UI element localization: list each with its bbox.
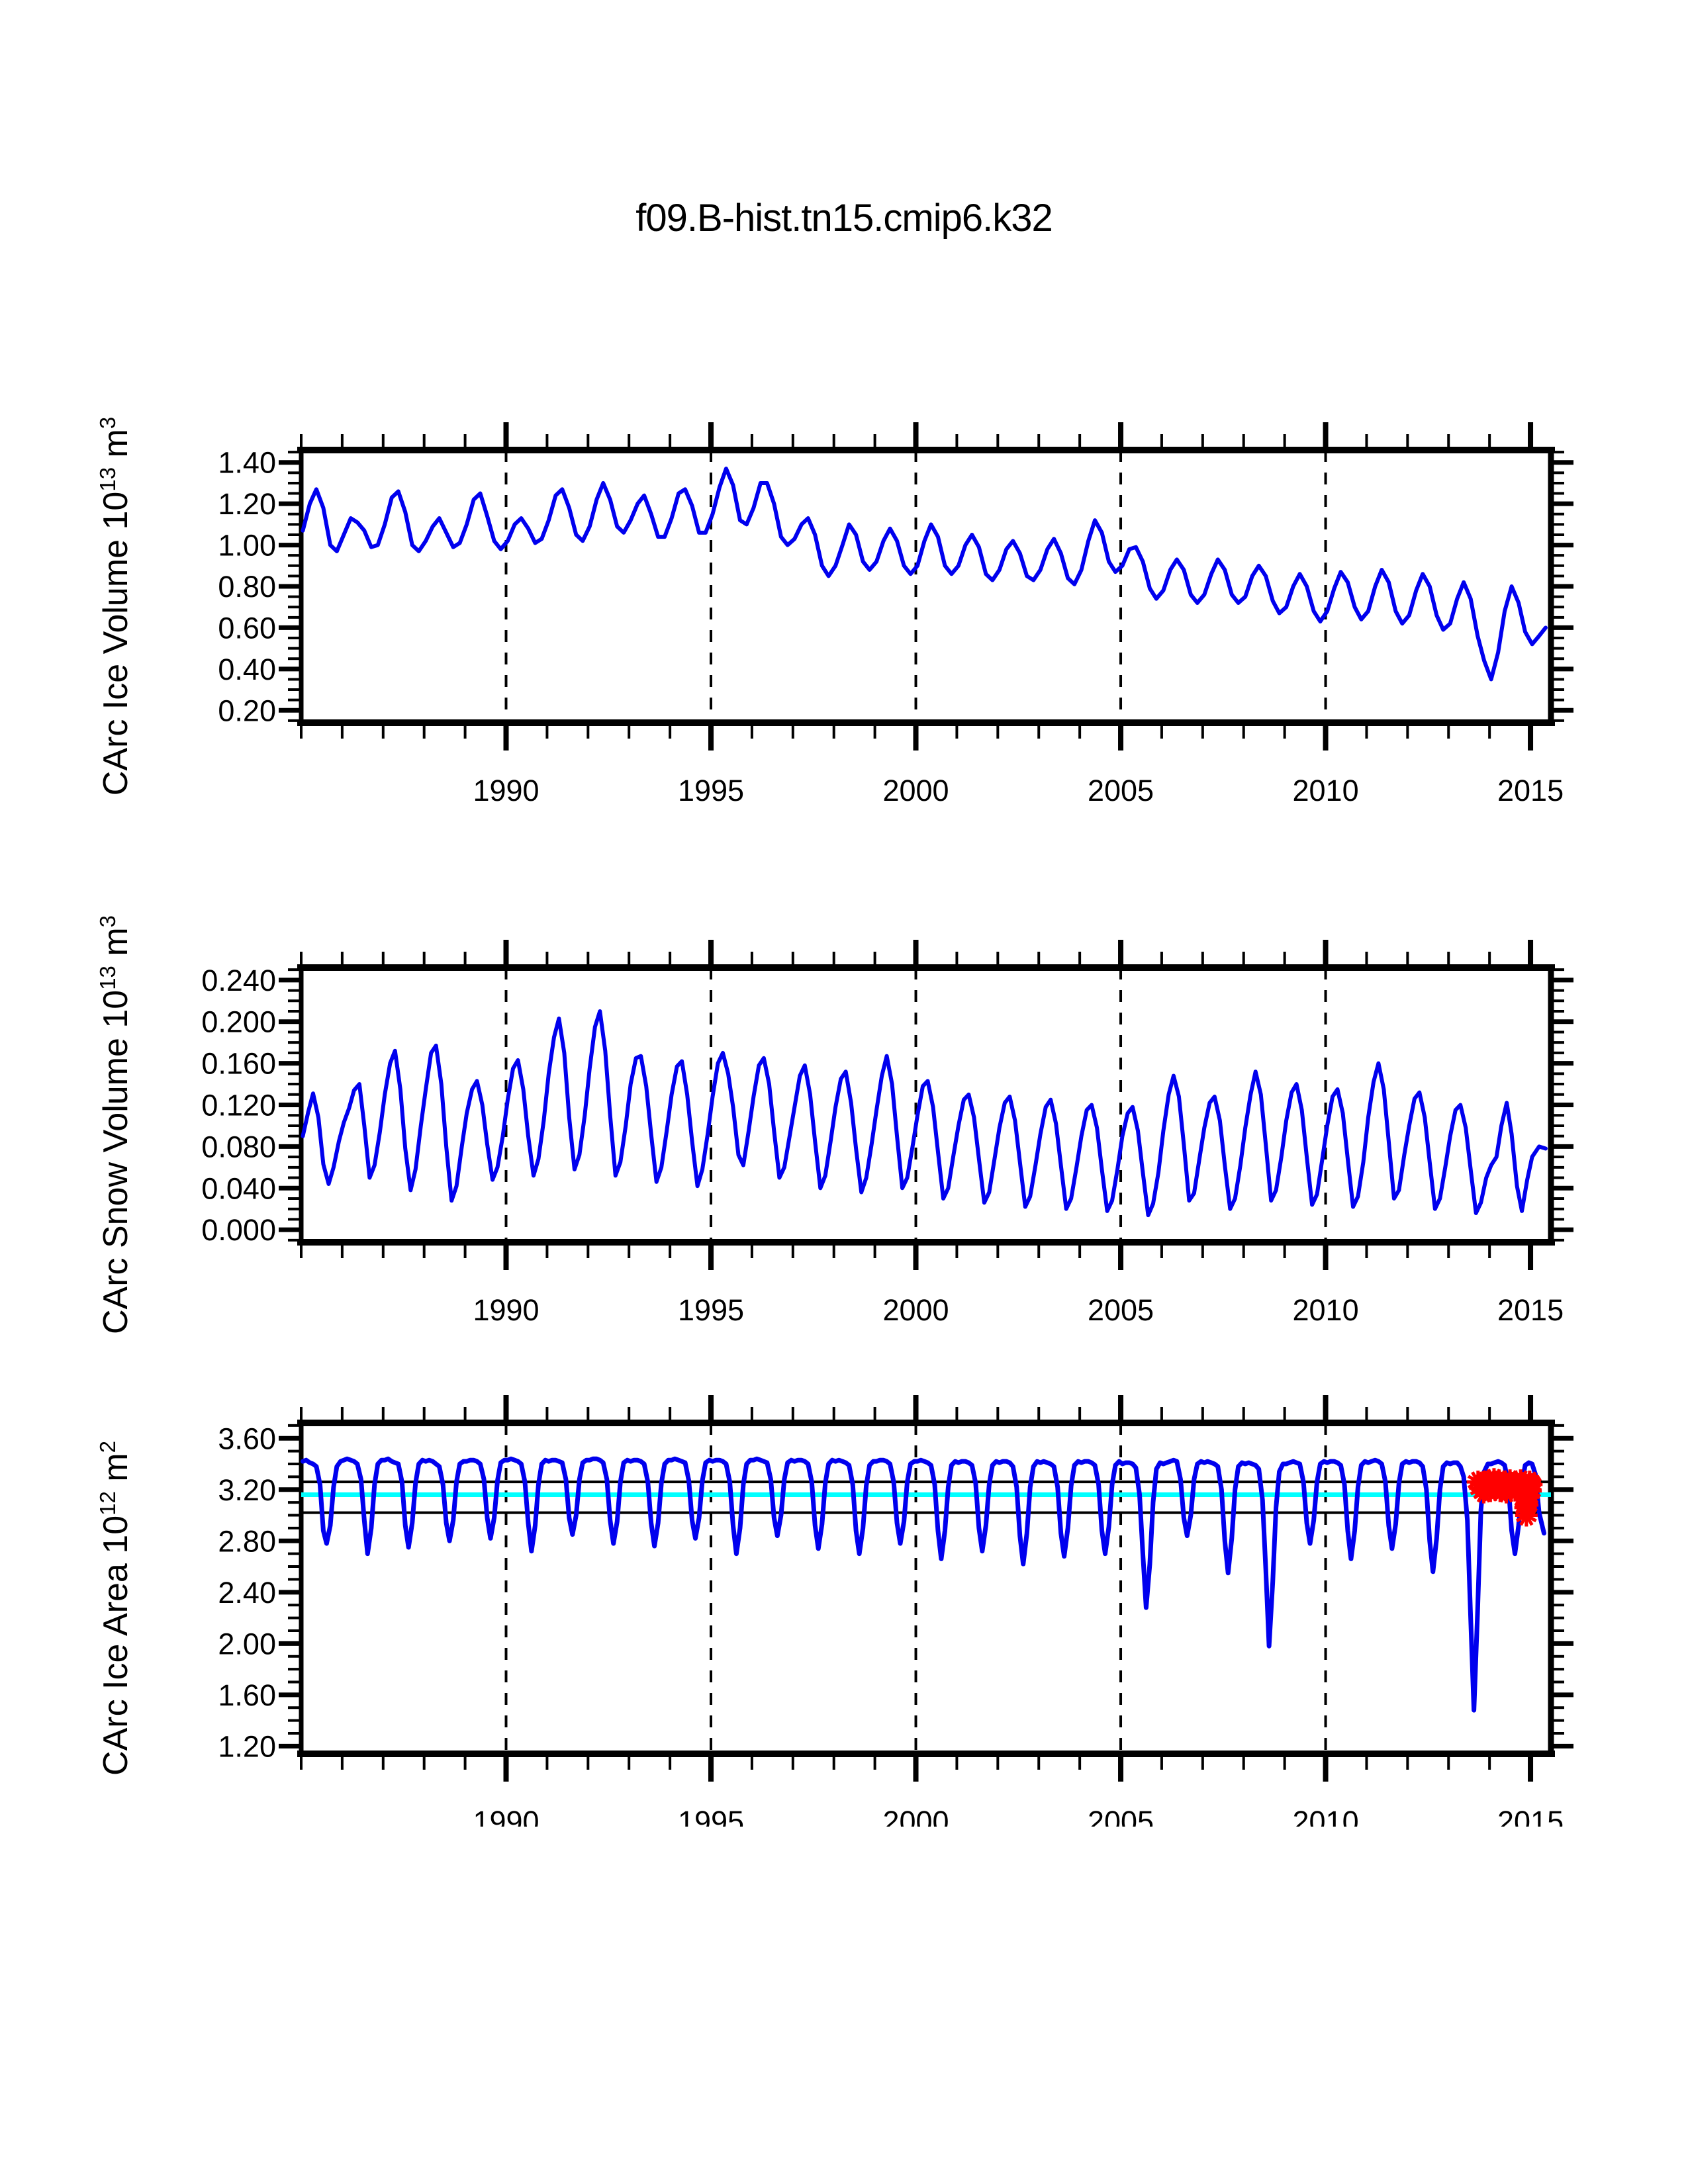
y-tick-label: 2.00 bbox=[218, 1627, 276, 1661]
y-axis-label: CArc Ice Volume 1013 m3 bbox=[95, 417, 135, 796]
y-tick-label: 0.080 bbox=[201, 1130, 276, 1163]
y-axis-label: CArc Ice Area 1012 m2 bbox=[95, 1441, 135, 1776]
panel-ice-volume: 1.401.201.000.800.600.400.20199019952000… bbox=[0, 371, 1688, 834]
x-tick-label: 2005 bbox=[1088, 1293, 1154, 1327]
y-tick-label: 0.80 bbox=[218, 570, 276, 604]
y-axis-label: CArc Snow Volume 1013 m3 bbox=[95, 915, 135, 1334]
y-tick-label: 0.40 bbox=[218, 653, 276, 686]
panel-ice-area: 3.603.202.802.402.001.601.20199019952000… bbox=[0, 1350, 1688, 1827]
x-tick-label: 1990 bbox=[473, 1293, 539, 1327]
svg-text:CArc Snow Volume 1013 m3: CArc Snow Volume 1013 m3 bbox=[95, 915, 135, 1334]
y-tick-label: 0.200 bbox=[201, 1005, 276, 1039]
y-tick-label: 0.000 bbox=[201, 1213, 276, 1247]
panel-snow-volume-svg: 0.2400.2000.1600.1200.0800.0400.00019901… bbox=[0, 887, 1688, 1350]
x-tick-label: 2015 bbox=[1497, 1805, 1564, 1827]
x-tick-label: 1995 bbox=[678, 1805, 744, 1827]
y-tick-label: 1.20 bbox=[218, 487, 276, 521]
x-tick-label: 2010 bbox=[1292, 774, 1358, 807]
x-tick-label: 2005 bbox=[1088, 774, 1154, 807]
page-title: f09.B-hist.tn15.cmip6.k32 bbox=[0, 196, 1688, 240]
x-tick-label: 2000 bbox=[882, 1293, 949, 1327]
y-tick-label: 0.20 bbox=[218, 694, 276, 727]
x-tick-label: 2000 bbox=[882, 1805, 949, 1827]
figure-canvas: { "figure": { "title": "f09.B-hist.tn15.… bbox=[0, 0, 1688, 2184]
panel-ice-area-svg: 3.603.202.802.402.001.601.20199019952000… bbox=[0, 1350, 1688, 1827]
observation-markers bbox=[1467, 1468, 1542, 1526]
y-tick-label: 0.120 bbox=[201, 1089, 276, 1122]
x-tick-label: 1995 bbox=[678, 1293, 744, 1327]
x-tick-label: 2005 bbox=[1088, 1805, 1154, 1827]
x-tick-label: 2000 bbox=[882, 774, 949, 807]
panel-ice-volume-svg: 1.401.201.000.800.600.400.20199019952000… bbox=[0, 371, 1688, 834]
y-tick-label: 3.60 bbox=[218, 1422, 276, 1455]
x-tick-label: 1990 bbox=[473, 1805, 539, 1827]
panel-snow-volume: 0.2400.2000.1600.1200.0800.0400.00019901… bbox=[0, 887, 1688, 1350]
x-tick-label: 2010 bbox=[1292, 1293, 1358, 1327]
x-tick-label: 1995 bbox=[678, 774, 744, 807]
y-tick-label: 0.240 bbox=[201, 964, 276, 997]
y-tick-label: 0.60 bbox=[218, 611, 276, 645]
y-tick-label: 1.40 bbox=[218, 446, 276, 480]
x-tick-label: 2015 bbox=[1497, 774, 1564, 807]
y-tick-label: 0.160 bbox=[201, 1047, 276, 1081]
data-series-line bbox=[303, 1011, 1545, 1215]
x-tick-label: 2015 bbox=[1497, 1293, 1564, 1327]
y-tick-label: 3.20 bbox=[218, 1473, 276, 1507]
y-tick-label: 1.00 bbox=[218, 529, 276, 563]
x-tick-label: 2010 bbox=[1292, 1805, 1358, 1827]
svg-text:CArc Ice Volume 1013 m3: CArc Ice Volume 1013 m3 bbox=[95, 417, 135, 796]
y-tick-label: 1.60 bbox=[218, 1678, 276, 1712]
y-tick-label: 2.80 bbox=[218, 1524, 276, 1558]
y-tick-label: 2.40 bbox=[218, 1576, 276, 1610]
y-tick-label: 1.20 bbox=[218, 1729, 276, 1763]
svg-text:CArc Ice Area 1012 m2: CArc Ice Area 1012 m2 bbox=[95, 1441, 135, 1776]
y-tick-label: 0.040 bbox=[201, 1171, 276, 1205]
x-tick-label: 1990 bbox=[473, 774, 539, 807]
data-series-line bbox=[303, 469, 1545, 679]
